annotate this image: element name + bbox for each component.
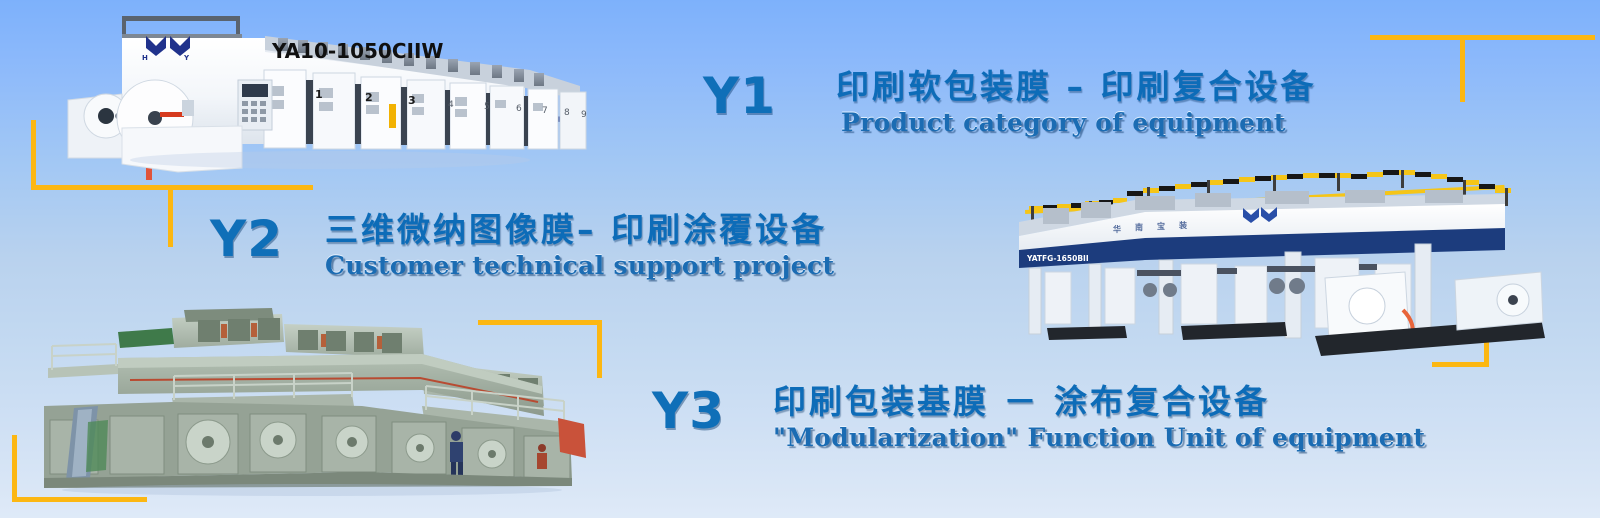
svg-text:宝: 宝 (1157, 221, 1165, 231)
entry-english-y2: Customer technical support project (325, 251, 834, 280)
svg-text:1: 1 (315, 88, 323, 101)
bracket-bottom-left-horizontal (12, 497, 147, 502)
equipment-banner: H Y YA10-1050CIIW 123 456 789 (0, 0, 1600, 518)
svg-text:南: 南 (1135, 222, 1143, 232)
svg-text:装: 装 (1178, 220, 1187, 230)
svg-text:8: 8 (564, 108, 570, 118)
bracket-mid-left-vertical (168, 185, 173, 247)
entry-code-y1: Y1 (703, 70, 776, 122)
svg-text:5: 5 (484, 102, 490, 112)
svg-text:7: 7 (542, 106, 548, 116)
entry-chinese-y2: 三维微纳图像膜– 印刷涂覆设备 (325, 211, 834, 249)
bracket-top-right-vertical (1460, 35, 1465, 102)
svg-text:华: 华 (1113, 224, 1121, 234)
entry-english-y3: "Modularization" Function Unit of equipm… (773, 423, 1425, 452)
svg-text:9: 9 (581, 110, 587, 120)
bracket-top-right-horizontal (1370, 35, 1595, 40)
svg-text:2: 2 (365, 91, 373, 104)
svg-text:3: 3 (408, 94, 416, 107)
svg-text:4: 4 (448, 100, 454, 110)
machine2-model-text: YATFG-1650BII (1026, 254, 1089, 263)
entry-row-y1: Y1 印刷软包装膜 – 印刷复合设备 Product category of e… (703, 70, 1316, 137)
svg-text:H: H (142, 54, 148, 62)
bracket-mid-vertical (597, 320, 602, 378)
machine1-model-text: YA10-1050CIIW (271, 39, 443, 63)
entry-code-y3: Y3 (652, 385, 725, 437)
bracket-right-horizontal (1432, 362, 1489, 367)
machine-base-film-coating-line (22, 302, 592, 497)
entry-code-y2: Y2 (210, 213, 283, 265)
svg-text:Y: Y (183, 54, 190, 62)
entry-chinese-y3: 印刷包装基膜 － 涂布复合设备 (773, 383, 1425, 421)
bracket-bottom-left-vertical (12, 435, 17, 501)
machine-rotogravure-printing-press: H Y YA10-1050CIIW 123 456 789 (60, 8, 605, 180)
entry-chinese-y1: 印刷软包装膜 – 印刷复合设备 (836, 68, 1316, 106)
entry-english-y1: Product category of equipment (841, 108, 1316, 137)
machine-coating-laminating: 华南宝装 YATFG-1650BII (985, 160, 1545, 360)
operator-figure-2 (537, 444, 547, 469)
bracket-left-upper-vertical (31, 120, 36, 188)
svg-text:6: 6 (516, 104, 522, 114)
entry-row-y2: Y2 三维微纳图像膜– 印刷涂覆设备 Customer technical su… (210, 213, 834, 280)
entry-row-y3: Y3 印刷包装基膜 － 涂布复合设备 "Modularization" Func… (652, 385, 1425, 452)
